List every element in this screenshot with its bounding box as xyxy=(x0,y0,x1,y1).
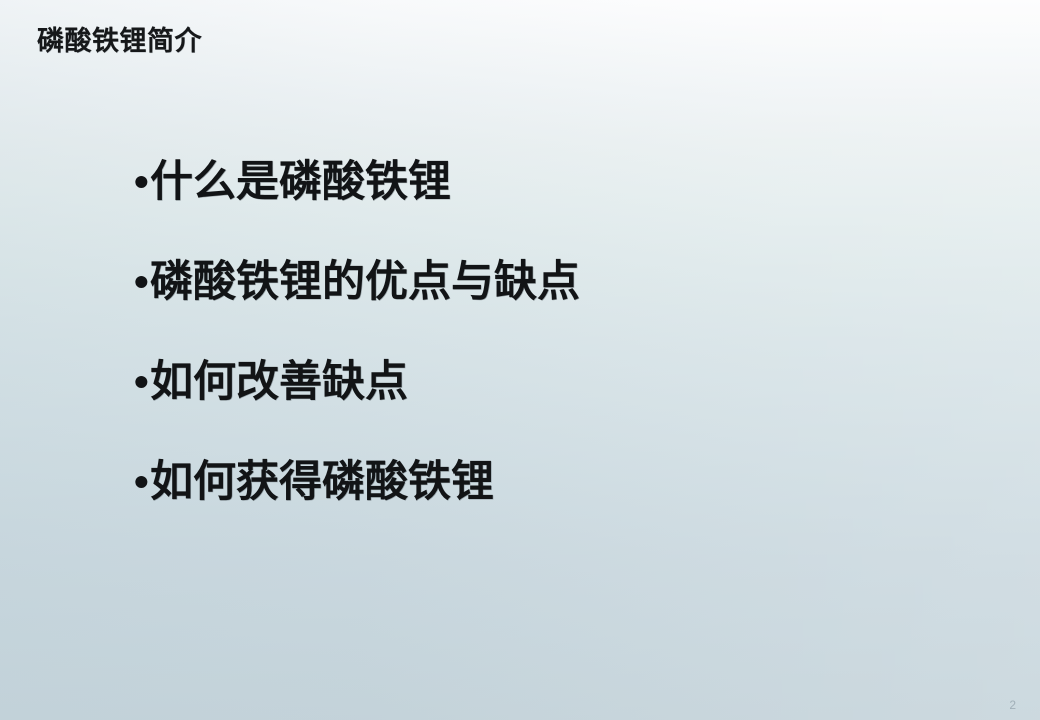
bullet-marker-icon: • xyxy=(134,358,150,406)
bullet-marker-icon: • xyxy=(134,258,150,306)
presentation-slide: 磷酸铁锂简介 • 什么是磷酸铁锂 • 磷酸铁锂的优点与缺点 • 如何改善缺点 •… xyxy=(0,0,1040,720)
bullet-list: • 什么是磷酸铁锂 • 磷酸铁锂的优点与缺点 • 如何改善缺点 • 如何获得磷酸… xyxy=(134,158,974,558)
bullet-text: 如何改善缺点 xyxy=(150,358,408,406)
slide-content-area: 磷酸铁锂简介 • 什么是磷酸铁锂 • 磷酸铁锂的优点与缺点 • 如何改善缺点 •… xyxy=(0,0,1040,720)
list-item[interactable]: • 如何获得磷酸铁锂 xyxy=(134,458,974,558)
slide-title: 磷酸铁锂简介 xyxy=(37,24,202,58)
list-item[interactable]: • 磷酸铁锂的优点与缺点 xyxy=(134,258,974,358)
page-number: 2 xyxy=(1009,698,1016,712)
list-item[interactable]: • 如何改善缺点 xyxy=(134,358,974,458)
bullet-text: 如何获得磷酸铁锂 xyxy=(150,458,494,506)
list-item[interactable]: • 什么是磷酸铁锂 xyxy=(134,158,974,258)
bullet-text: 磷酸铁锂的优点与缺点 xyxy=(150,258,580,306)
bullet-text: 什么是磷酸铁锂 xyxy=(150,158,451,206)
bullet-marker-icon: • xyxy=(134,158,150,206)
bullet-marker-icon: • xyxy=(134,458,150,506)
